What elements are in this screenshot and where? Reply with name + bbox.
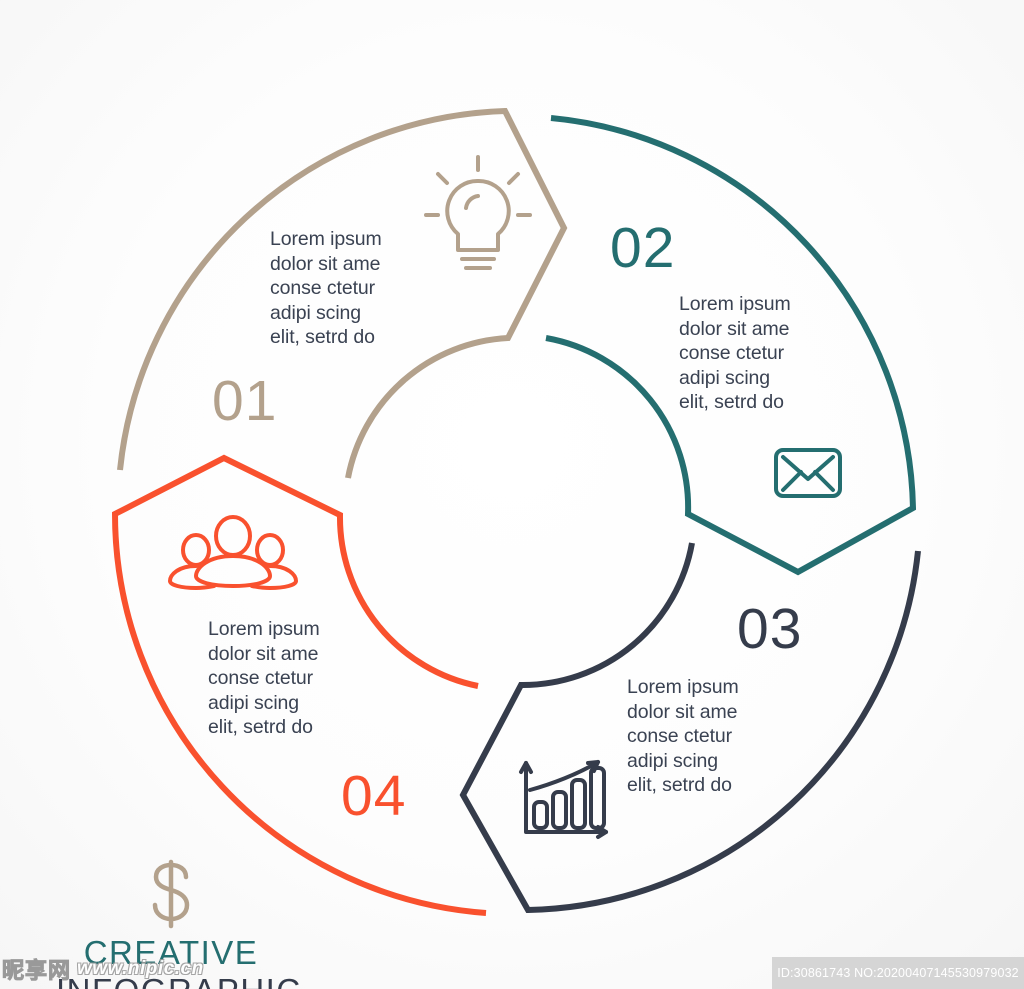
- site-url: www.nipic.cn: [77, 958, 204, 980]
- segment-03-number: 03: [737, 601, 802, 658]
- id-watermark-text: ID:30861743 NO:20200407145530979032: [777, 966, 1019, 980]
- segment-04-body: Lorem ipsum dolor sit ame conse ctetur a…: [208, 617, 320, 740]
- segment-01-number: 01: [212, 373, 277, 430]
- segment-02-number: 02: [610, 220, 675, 277]
- id-watermark-bar: ID:30861743 NO:20200407145530979032: [772, 957, 1024, 989]
- circular-cycle-diagram: .band { fill:none; stroke-width:6; strok…: [0, 0, 1024, 989]
- segment-04-number: 04: [341, 768, 406, 825]
- segment-03-body: Lorem ipsum dolor sit ame conse ctetur a…: [627, 675, 739, 798]
- infographic-canvas: .band { fill:none; stroke-width:6; strok…: [0, 0, 1024, 989]
- dollar-sign-icon: [145, 858, 197, 930]
- segment-02-body: Lorem ipsum dolor sit ame conse ctetur a…: [679, 292, 791, 415]
- site-watermark: 昵享网 www.nipic.cn: [2, 952, 234, 986]
- people-group-icon: [170, 517, 296, 588]
- segment-01-body: Lorem ipsum dolor sit ame conse ctetur a…: [270, 227, 382, 350]
- lightbulb-icon: [426, 157, 530, 268]
- site-logo-cn: 昵享网: [2, 953, 77, 985]
- envelope-icon: [776, 450, 840, 496]
- bar-chart-growth-icon: [521, 762, 606, 837]
